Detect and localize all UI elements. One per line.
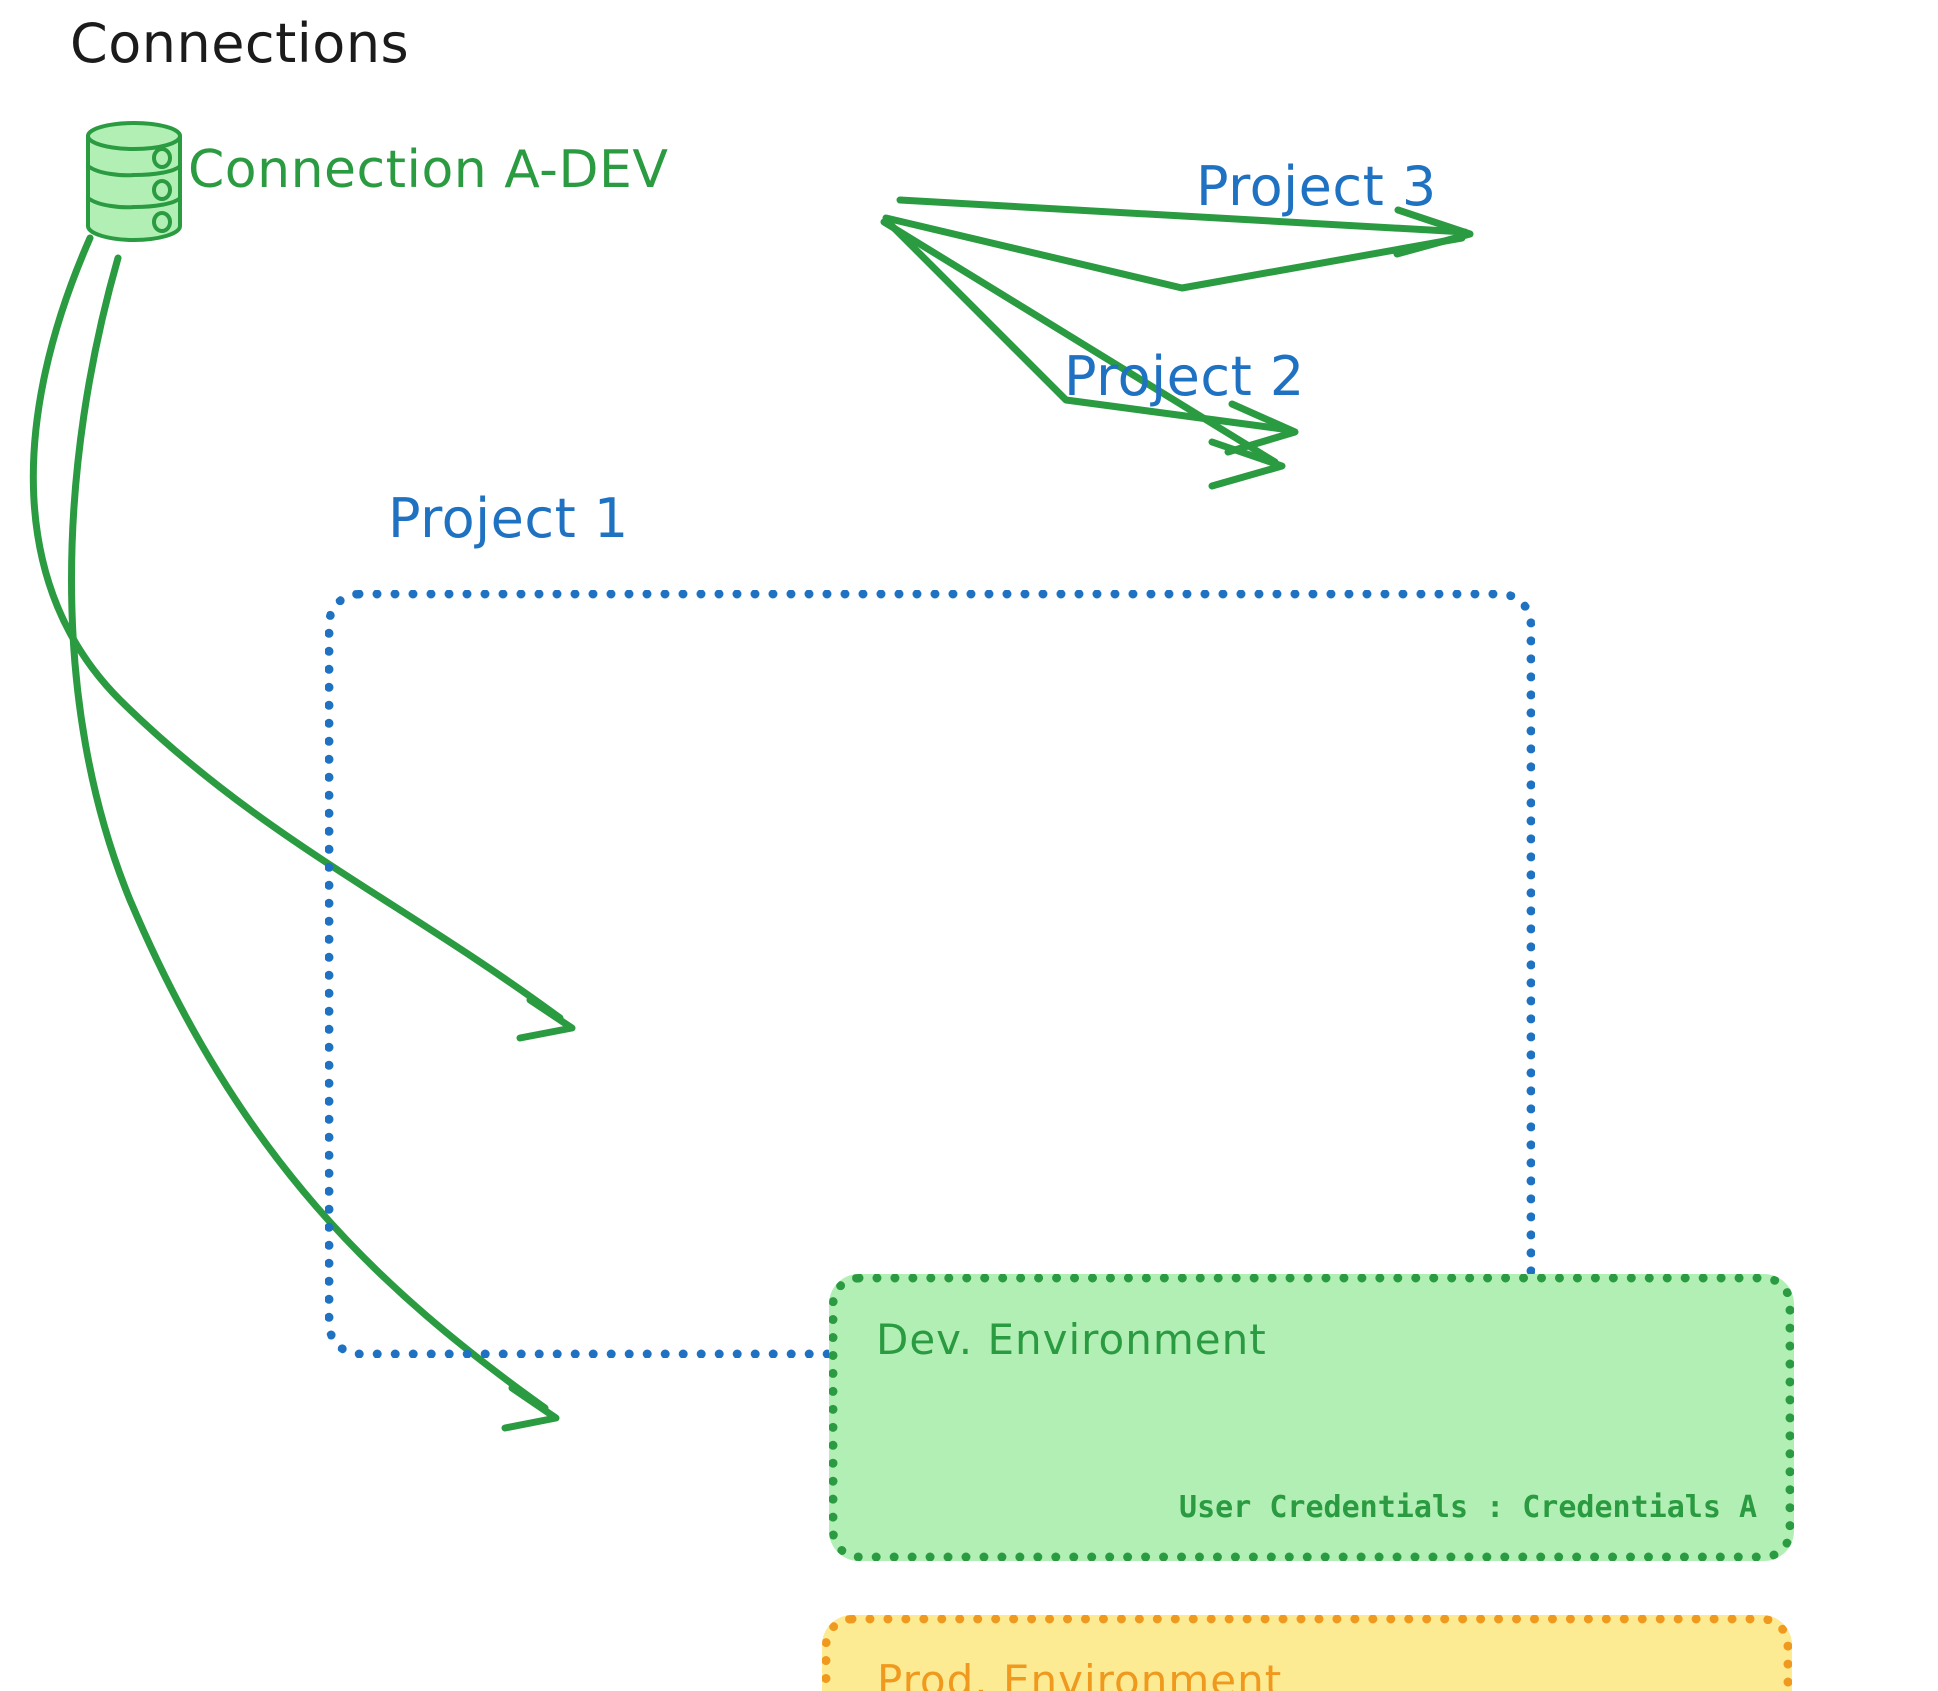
- diagram-canvas: Connections Connection A-DEV Project 3 P…: [0, 0, 1938, 1691]
- project-3-label[interactable]: Project 3: [1196, 155, 1437, 218]
- prod-environment-title: Prod. Environment: [877, 1656, 1282, 1691]
- dev-environment-attributes: User Credentials : Credentials A: [1179, 1485, 1757, 1530]
- dev-attribute-line: User Credentials : Credentials A: [1179, 1485, 1757, 1530]
- project-2-label[interactable]: Project 2: [1064, 345, 1305, 408]
- project-1-container: Dev. Environment User Credentials : Cred…: [325, 590, 1535, 1358]
- page-title: Connections: [70, 12, 409, 75]
- dev-environment-title: Dev. Environment: [876, 1315, 1267, 1364]
- prod-environment-box[interactable]: Prod. Environment Extended Attributes : …: [822, 1615, 1792, 1691]
- project-1-label[interactable]: Project 1: [388, 487, 629, 550]
- connection-label[interactable]: Connection A-DEV: [188, 140, 668, 200]
- dev-environment-box[interactable]: Dev. Environment User Credentials : Cred…: [829, 1274, 1794, 1561]
- database-cylinder-icon: [82, 118, 186, 244]
